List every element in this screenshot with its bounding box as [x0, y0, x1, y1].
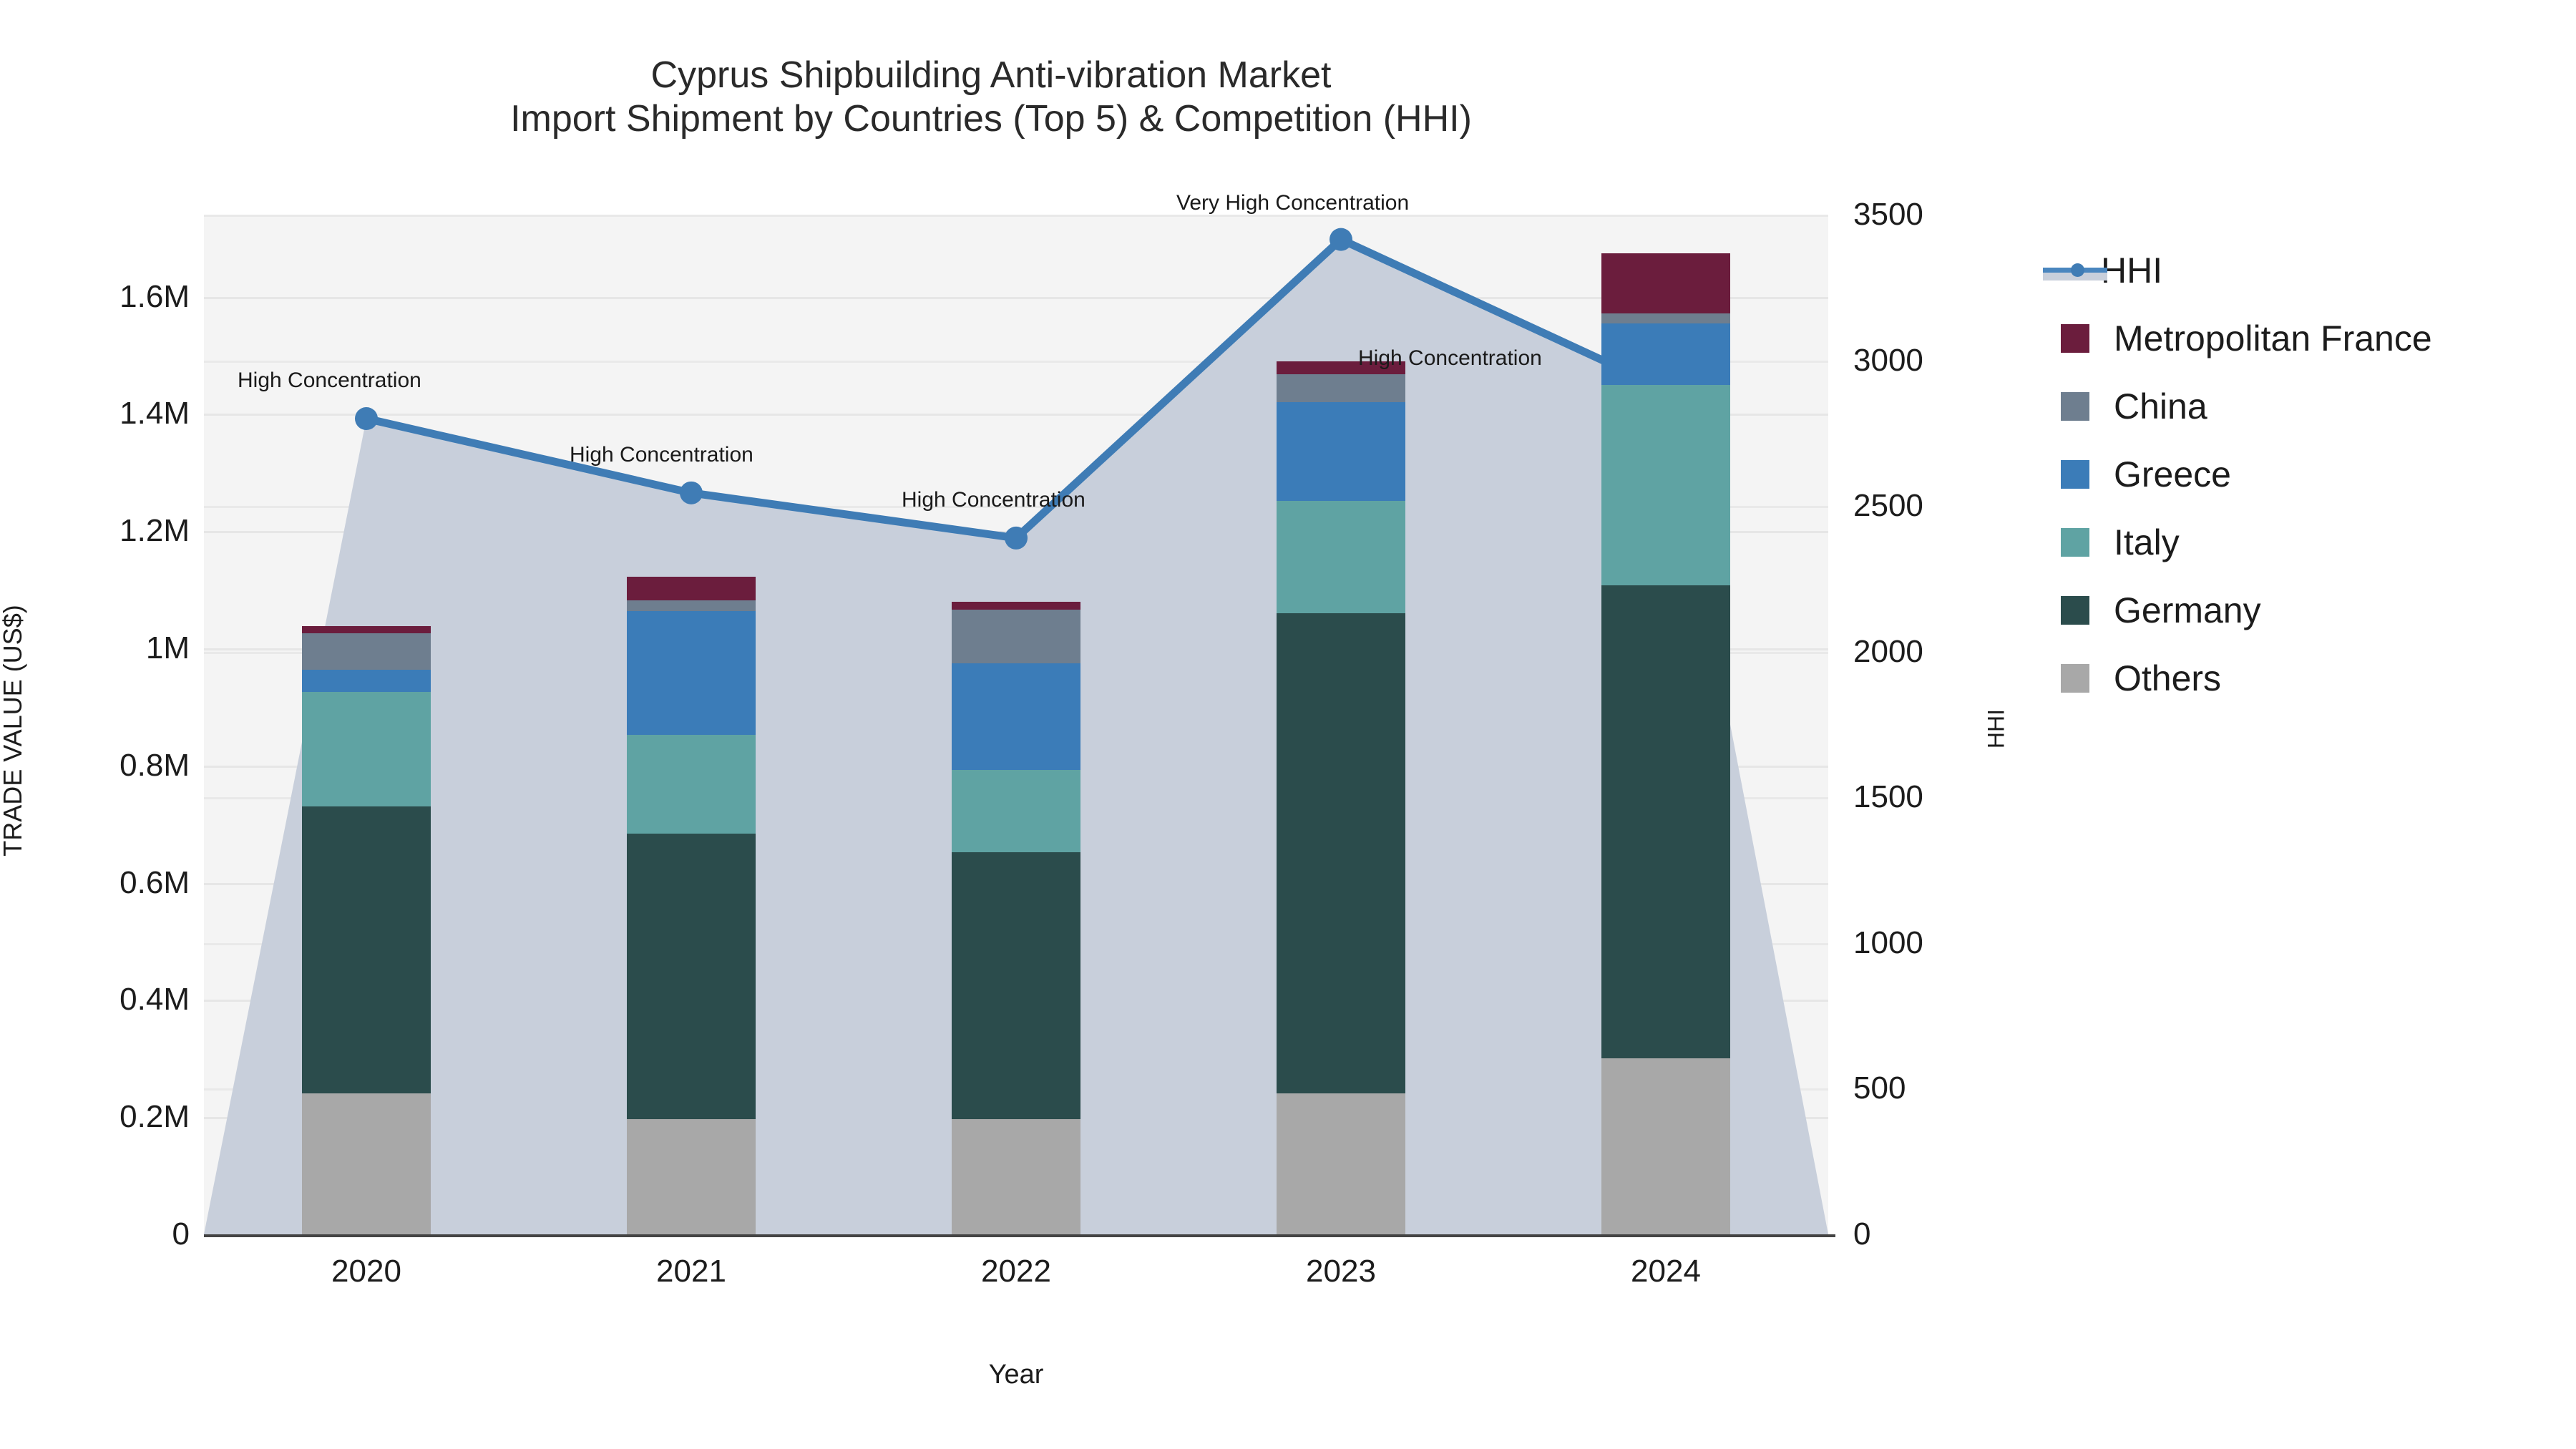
bar-group-2020[interactable]	[302, 626, 431, 1234]
bar-segment[interactable]	[302, 692, 431, 807]
bar-segment[interactable]	[952, 770, 1080, 852]
legend-color-swatch-icon	[2061, 460, 2089, 489]
x-tick-label: 2020	[273, 1254, 459, 1289]
legend-item-italy[interactable]: Italy	[2061, 508, 2562, 576]
y-tick-label-primary: 1M	[0, 630, 190, 666]
y-tick-label-primary: 0.6M	[0, 865, 190, 901]
bar-segment[interactable]	[1601, 313, 1730, 324]
bar-segment[interactable]	[1277, 402, 1405, 501]
hhi-point-annotation: High Concentration	[1358, 346, 1542, 371]
legend-item-label: Metropolitan France	[2114, 318, 2432, 359]
x-tick-label: 2024	[1573, 1254, 1759, 1289]
bar-segment[interactable]	[627, 1119, 756, 1234]
y-tick-label-secondary: 3000	[1853, 343, 2039, 379]
legend-item-hhi[interactable]: HHI	[2061, 236, 2562, 304]
y-tick-label-secondary: 2500	[1853, 488, 2039, 524]
bar-segment[interactable]	[627, 600, 756, 611]
plot-area	[204, 215, 1828, 1234]
bar-segment[interactable]	[1277, 501, 1405, 613]
y-tick-label-secondary: 2000	[1853, 634, 2039, 670]
bar-segment[interactable]	[952, 1119, 1080, 1234]
x-tick-label: 2022	[923, 1254, 1109, 1289]
legend-item-metropolitan-france[interactable]: Metropolitan France	[2061, 304, 2562, 372]
bar-segment[interactable]	[952, 610, 1080, 663]
hhi-point-annotation: High Concentration	[902, 488, 1085, 512]
y-tick-label-secondary: 3500	[1853, 197, 2039, 233]
legend-item-label: Italy	[2114, 522, 2180, 563]
y-tick-label-secondary: 500	[1853, 1070, 2039, 1106]
bar-segment[interactable]	[627, 577, 756, 600]
x-axis-line	[204, 1234, 1835, 1237]
x-axis-label: Year	[204, 1360, 1828, 1390]
bar-segment[interactable]	[302, 806, 431, 1093]
y-tick-label-primary: 1.2M	[0, 513, 190, 549]
bar-segment[interactable]	[302, 633, 431, 670]
y-tick-label-primary: 1.4M	[0, 396, 190, 431]
bar-segment[interactable]	[302, 670, 431, 692]
bar-segment[interactable]	[952, 852, 1080, 1119]
y-tick-label-secondary: 0	[1853, 1216, 2039, 1252]
y-tick-label-secondary: 1500	[1853, 779, 2039, 815]
bar-segment[interactable]	[1601, 1058, 1730, 1234]
legend-item-china[interactable]: China	[2061, 372, 2562, 440]
hhi-point-annotation: High Concentration	[238, 369, 421, 393]
legend-item-label: HHI	[2101, 250, 2162, 291]
legend-line-swatch-icon	[2043, 256, 2107, 285]
legend-item-label: Greece	[2114, 454, 2231, 495]
bar-group-2024[interactable]	[1601, 253, 1730, 1234]
legend-color-swatch-icon	[2061, 596, 2089, 625]
bar-segment[interactable]	[1601, 323, 1730, 384]
bar-segment[interactable]	[302, 1093, 431, 1234]
bar-segment[interactable]	[302, 626, 431, 633]
y-tick-label-primary: 0.8M	[0, 748, 190, 784]
legend-item-germany[interactable]: Germany	[2061, 576, 2562, 644]
bar-group-2022[interactable]	[952, 602, 1080, 1234]
legend-color-swatch-icon	[2061, 528, 2089, 557]
bar-segment[interactable]	[1601, 253, 1730, 313]
legend-item-label: Germany	[2114, 590, 2261, 631]
y-tick-label-secondary: 1000	[1853, 925, 2039, 961]
legend-item-label: Others	[2114, 658, 2221, 699]
legend-color-swatch-icon	[2061, 392, 2089, 421]
y-tick-label-primary: 0.2M	[0, 1099, 190, 1135]
bar-segment[interactable]	[627, 834, 756, 1120]
x-tick-label: 2021	[598, 1254, 784, 1289]
bar-segment[interactable]	[1277, 374, 1405, 402]
legend-color-swatch-icon	[2061, 664, 2089, 693]
y-tick-label-primary: 0.4M	[0, 982, 190, 1018]
y-axis-secondary-label: HHI	[1984, 636, 2010, 822]
bar-segment[interactable]	[952, 663, 1080, 770]
y-tick-label-primary: 1.6M	[0, 279, 190, 315]
page-title: Cyprus Shipbuilding Anti-vibration Marke…	[0, 54, 1982, 142]
legend-item-label: China	[2114, 386, 2207, 427]
bar-segment[interactable]	[627, 611, 756, 736]
bar-segment[interactable]	[1277, 613, 1405, 1094]
bar-segment[interactable]	[952, 602, 1080, 610]
legend-item-others[interactable]: Others	[2061, 644, 2562, 712]
legend: HHIMetropolitan FranceChinaGreeceItalyGe…	[2061, 236, 2562, 712]
legend-item-greece[interactable]: Greece	[2061, 440, 2562, 508]
bar-segment[interactable]	[1601, 385, 1730, 585]
hhi-point-annotation: Very High Concentration	[1176, 191, 1409, 215]
x-tick-label: 2023	[1248, 1254, 1434, 1289]
hhi-point-annotation: High Concentration	[570, 443, 753, 467]
y-tick-label-primary: 0	[0, 1216, 190, 1252]
bar-segment[interactable]	[1601, 585, 1730, 1059]
bars-layer	[204, 215, 1828, 1234]
y-axis-primary-label: TRADE VALUE (US$)	[0, 552, 28, 909]
legend-color-swatch-icon	[2061, 324, 2089, 353]
bar-group-2021[interactable]	[627, 577, 756, 1234]
bar-segment[interactable]	[627, 735, 756, 834]
bar-segment[interactable]	[1277, 1093, 1405, 1234]
bar-group-2023[interactable]	[1277, 361, 1405, 1234]
